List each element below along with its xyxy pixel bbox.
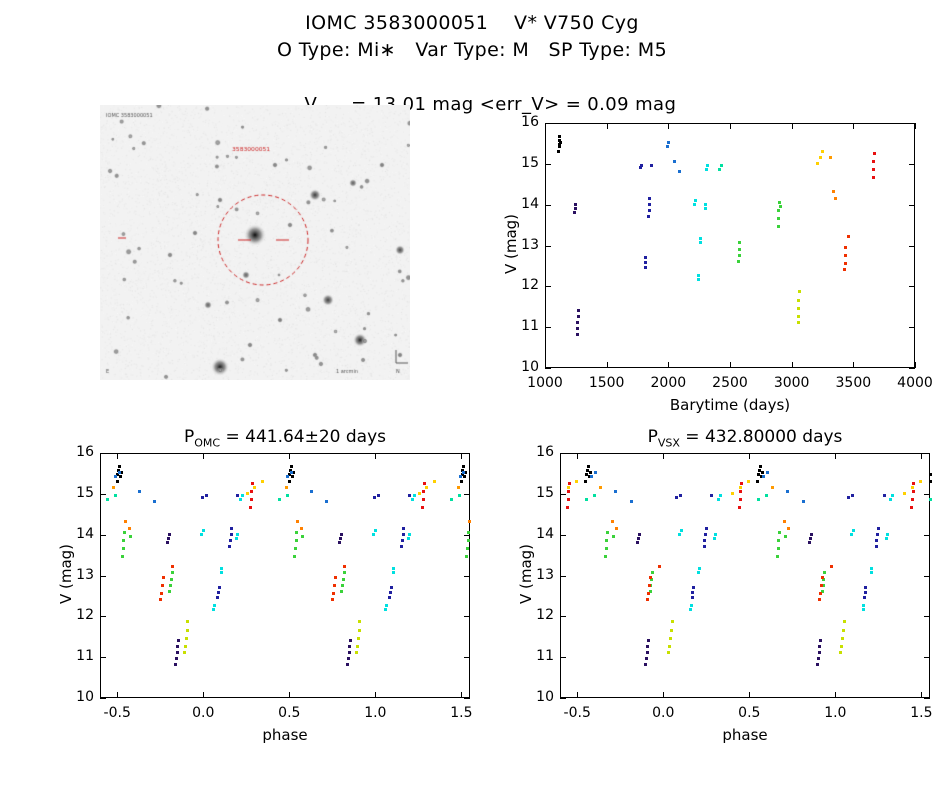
data-point <box>421 506 424 509</box>
y-tick <box>464 535 470 536</box>
x-tick <box>607 362 608 368</box>
data-point <box>118 465 121 468</box>
data-point <box>413 494 416 497</box>
data-point <box>929 498 932 501</box>
y-tick-label: 15 <box>511 155 539 171</box>
data-point <box>671 620 674 623</box>
data-point <box>647 592 650 595</box>
data-point <box>678 533 681 536</box>
data-point <box>121 555 124 558</box>
data-point <box>112 486 115 489</box>
data-point <box>842 629 845 632</box>
data-point <box>816 162 819 165</box>
data-point <box>797 299 800 302</box>
data-point <box>295 539 298 542</box>
y-tick <box>100 576 106 577</box>
data-point <box>851 494 854 497</box>
data-point <box>604 555 607 558</box>
data-point <box>864 586 867 589</box>
data-point <box>646 651 649 654</box>
data-point <box>235 537 238 540</box>
data-point <box>821 150 824 153</box>
lightcurve-panel: 1000150020002500300035004000101112131415… <box>470 95 944 460</box>
y-tick <box>100 453 106 454</box>
x-tick <box>663 692 664 698</box>
y-tick <box>560 494 566 495</box>
data-point <box>357 637 360 640</box>
vsx-title-sub: VSX <box>658 436 680 449</box>
y-tick <box>924 453 930 454</box>
data-point <box>605 547 608 550</box>
y-tick <box>909 327 915 328</box>
data-point <box>300 527 303 530</box>
data-point <box>699 237 702 240</box>
data-point <box>919 480 922 483</box>
x-tick-label: -0.5 <box>547 705 607 721</box>
x-tick-label: 2500 <box>700 375 760 391</box>
data-point <box>675 496 678 499</box>
x-tick <box>663 453 664 459</box>
data-point <box>699 241 702 244</box>
data-point <box>797 307 800 310</box>
x-tick <box>607 123 608 129</box>
data-point <box>372 533 375 536</box>
data-point <box>614 490 617 493</box>
data-point <box>290 471 293 474</box>
data-point <box>765 494 768 497</box>
y-axis-label: V (mag) <box>517 524 535 624</box>
y-tick <box>545 205 551 206</box>
data-point <box>872 168 875 171</box>
data-point <box>718 168 721 171</box>
data-point <box>779 205 782 208</box>
data-point <box>286 494 289 497</box>
data-point <box>615 527 618 530</box>
y-tick <box>924 616 930 617</box>
data-point <box>747 480 750 483</box>
data-point <box>832 190 835 193</box>
data-point <box>834 197 837 200</box>
vsx-title-prefix: P <box>648 427 658 447</box>
omc-title-prefix: P <box>184 427 194 447</box>
data-point <box>912 482 915 485</box>
x-tick <box>375 692 376 698</box>
y-tick <box>545 164 551 165</box>
data-point <box>636 541 639 544</box>
x-tick-label: 0.5 <box>719 705 779 721</box>
data-point <box>844 246 847 249</box>
data-point <box>798 290 801 293</box>
y-tick-label: 16 <box>526 444 554 460</box>
data-point <box>777 217 780 220</box>
y-tick <box>560 453 566 454</box>
data-point <box>153 500 156 503</box>
data-point <box>862 604 865 607</box>
data-point <box>843 268 846 271</box>
data-point <box>738 248 741 251</box>
data-point <box>599 486 602 489</box>
data-point <box>212 608 215 611</box>
data-point <box>459 475 462 478</box>
data-point <box>870 571 873 574</box>
data-point <box>558 145 561 148</box>
data-point <box>864 591 867 594</box>
data-point <box>241 494 244 497</box>
data-point <box>230 533 233 536</box>
data-point <box>738 506 741 509</box>
phase-vsx-panel: PVSX = 432.80000 days-0.50.00.51.01.5101… <box>490 425 944 790</box>
y-tick-label: 15 <box>66 485 94 501</box>
y-tick <box>924 576 930 577</box>
data-point <box>358 620 361 623</box>
data-point <box>638 533 641 536</box>
page-title: IOMC 3583000051 V* V750 Cyg <box>0 10 944 37</box>
data-point <box>757 498 760 501</box>
data-point <box>175 657 178 660</box>
data-point <box>644 256 647 259</box>
data-point <box>462 471 465 474</box>
y-tick <box>100 698 106 699</box>
x-tick-label: 4000 <box>885 375 944 391</box>
lightcurve-plot-area <box>545 123 915 368</box>
data-point <box>576 321 579 324</box>
data-point <box>457 486 460 489</box>
data-point <box>847 235 850 238</box>
data-point <box>332 592 335 595</box>
data-point <box>778 201 781 204</box>
y-tick <box>560 698 566 699</box>
data-point <box>384 608 387 611</box>
data-point <box>467 539 470 542</box>
data-point <box>408 494 411 497</box>
data-point <box>301 535 304 538</box>
y-tick <box>909 164 915 165</box>
x-tick-label: 1.0 <box>805 705 865 721</box>
data-point <box>341 584 344 587</box>
data-point <box>819 639 822 642</box>
y-tick <box>909 368 915 369</box>
data-point <box>844 262 847 265</box>
y-tick <box>545 286 551 287</box>
y-tick-label: 10 <box>511 359 539 375</box>
data-point <box>645 657 648 660</box>
data-point <box>844 254 847 257</box>
data-point <box>841 637 844 640</box>
data-point <box>648 203 651 206</box>
data-point <box>646 645 649 648</box>
data-point <box>872 160 875 163</box>
data-point <box>738 241 741 244</box>
x-tick-label: -0.5 <box>87 705 147 721</box>
data-point <box>818 651 821 654</box>
data-point <box>630 500 633 503</box>
data-point <box>637 537 640 540</box>
data-point <box>771 486 774 489</box>
data-point <box>239 498 242 501</box>
y-tick <box>924 657 930 658</box>
x-tick <box>668 362 669 368</box>
data-point <box>184 645 187 648</box>
finding-chart-image <box>100 105 410 380</box>
data-point <box>783 520 786 523</box>
data-point <box>587 465 590 468</box>
data-point <box>349 639 352 642</box>
data-point <box>644 261 647 264</box>
data-point <box>850 533 853 536</box>
data-point <box>218 586 221 589</box>
data-point <box>778 531 781 534</box>
data-point <box>777 539 780 542</box>
data-point <box>251 482 254 485</box>
data-point <box>821 576 824 579</box>
data-point <box>124 520 127 523</box>
data-point <box>823 571 826 574</box>
x-tick-label: 3000 <box>762 375 822 391</box>
data-point <box>229 539 232 542</box>
data-point <box>236 494 239 497</box>
y-tick <box>909 286 915 287</box>
data-point <box>670 629 673 632</box>
data-point <box>611 520 614 523</box>
x-tick <box>915 123 916 129</box>
data-point <box>852 529 855 532</box>
data-point <box>122 547 125 550</box>
data-point <box>286 475 289 478</box>
y-tick-label: 11 <box>66 648 94 664</box>
y-tick <box>100 535 106 536</box>
data-point <box>818 645 821 648</box>
data-point <box>340 590 343 593</box>
x-tick-label: 0.5 <box>259 705 319 721</box>
data-point <box>756 480 759 483</box>
data-point <box>392 567 395 570</box>
x-tick <box>203 692 204 698</box>
y-tick <box>100 616 106 617</box>
data-point <box>574 203 577 206</box>
data-point <box>777 209 780 212</box>
data-point <box>720 164 723 167</box>
data-point <box>786 490 789 493</box>
x-tick <box>289 453 290 459</box>
data-point <box>342 578 345 581</box>
data-point <box>202 529 205 532</box>
y-axis-label: V (mag) <box>502 194 520 294</box>
data-point <box>797 315 800 318</box>
data-point <box>809 537 812 540</box>
data-point <box>343 565 346 568</box>
data-point <box>590 475 593 478</box>
data-point <box>719 494 722 497</box>
data-point <box>296 520 299 523</box>
y-tick-label: 15 <box>526 485 554 501</box>
data-point <box>450 498 453 501</box>
x-tick-label: 1.5 <box>891 705 944 721</box>
x-tick-label: 1500 <box>577 375 637 391</box>
data-point <box>584 480 587 483</box>
data-point <box>694 199 697 202</box>
data-point <box>183 651 186 654</box>
data-point <box>819 156 822 159</box>
data-point <box>278 498 281 501</box>
data-point <box>355 651 358 654</box>
y-tick-label: 11 <box>511 318 539 334</box>
y-tick <box>464 494 470 495</box>
data-point <box>640 164 643 167</box>
data-point <box>839 651 842 654</box>
data-point <box>648 584 651 587</box>
data-point <box>557 150 560 153</box>
data-point <box>114 475 117 478</box>
data-point <box>739 498 742 501</box>
x-tick <box>461 453 462 459</box>
data-point <box>114 494 117 497</box>
data-point <box>160 592 163 595</box>
data-point <box>690 604 693 607</box>
data-point <box>818 598 821 601</box>
data-point <box>129 535 132 538</box>
y-tick <box>464 657 470 658</box>
x-tick-label: 1.0 <box>345 705 405 721</box>
x-tick-label: 1.5 <box>431 705 491 721</box>
data-point <box>877 527 880 530</box>
data-point <box>697 274 700 277</box>
phase-omc-panel: POMC = 441.64±20 days-0.50.00.51.01.5101… <box>30 425 540 790</box>
data-point <box>606 531 609 534</box>
x-tick <box>461 692 462 698</box>
data-point <box>576 327 579 330</box>
x-axis-label: phase <box>560 726 930 744</box>
data-point <box>873 152 876 155</box>
y-tick <box>464 698 470 699</box>
data-point <box>808 541 811 544</box>
data-point <box>389 591 392 594</box>
data-point <box>910 506 913 509</box>
y-tick <box>545 246 551 247</box>
data-point <box>817 657 820 660</box>
data-point <box>338 541 341 544</box>
data-point <box>118 471 121 474</box>
x-tick <box>749 692 750 698</box>
data-point <box>138 490 141 493</box>
data-point <box>697 278 700 281</box>
data-point <box>177 639 180 642</box>
data-point <box>250 498 253 501</box>
data-point <box>872 176 875 179</box>
data-point <box>648 209 651 212</box>
data-point <box>759 465 762 468</box>
data-point <box>903 492 906 495</box>
data-point <box>577 309 580 312</box>
data-point <box>883 494 886 497</box>
y-tick-label: 10 <box>66 689 94 705</box>
data-point <box>816 663 819 666</box>
data-point <box>589 471 592 474</box>
x-tick <box>730 123 731 129</box>
data-point <box>422 490 425 493</box>
data-point <box>566 506 569 509</box>
data-point <box>697 571 700 574</box>
data-point <box>891 494 894 497</box>
data-point <box>169 584 172 587</box>
data-point <box>159 598 162 601</box>
x-tick <box>577 453 578 459</box>
x-tick <box>375 453 376 459</box>
data-point <box>929 480 932 483</box>
data-point <box>228 545 231 548</box>
object-types: O Type: Mi∗ Var Type: M SP Type: M5 <box>0 37 944 64</box>
data-point <box>577 315 580 318</box>
x-tick-label: 0.0 <box>173 705 233 721</box>
data-point <box>331 598 334 601</box>
data-point <box>123 531 126 534</box>
data-point <box>691 596 694 599</box>
data-point <box>777 225 780 228</box>
data-point <box>704 203 707 206</box>
data-point <box>200 533 203 536</box>
data-point <box>594 471 597 474</box>
data-point <box>559 141 562 144</box>
data-point <box>593 494 596 497</box>
y-tick <box>545 123 551 124</box>
omc-title-sub: OMC <box>194 436 220 449</box>
data-point <box>573 211 576 214</box>
omc-title-rest: = 441.64±20 days <box>220 427 386 447</box>
data-point <box>288 480 291 483</box>
data-point <box>205 494 208 497</box>
data-point <box>911 498 914 501</box>
data-point <box>558 135 561 138</box>
data-point <box>612 535 615 538</box>
data-point <box>348 651 351 654</box>
x-tick <box>921 453 922 459</box>
x-tick-label: 3500 <box>823 375 883 391</box>
data-point <box>761 471 764 474</box>
data-point <box>253 486 256 489</box>
data-point <box>295 531 298 534</box>
x-tick-label: 2000 <box>638 375 698 391</box>
plot-page: IOMC 3583000051 V* V750 Cyg O Type: Mi∗ … <box>0 0 944 747</box>
data-point <box>466 547 469 550</box>
data-point <box>576 333 579 336</box>
data-point <box>693 203 696 206</box>
data-point <box>673 160 676 163</box>
data-point <box>714 533 717 536</box>
data-point <box>651 571 654 574</box>
data-point <box>644 266 647 269</box>
data-point <box>797 321 800 324</box>
data-point <box>402 527 405 530</box>
x-tick <box>853 123 854 129</box>
data-point <box>704 533 707 536</box>
y-tick <box>909 123 915 124</box>
y-tick <box>464 453 470 454</box>
data-point <box>667 651 670 654</box>
data-point <box>575 480 578 483</box>
y-tick-label: 16 <box>511 114 539 130</box>
data-point <box>802 500 805 503</box>
data-point <box>261 480 264 483</box>
data-point <box>422 498 425 501</box>
data-point <box>574 207 577 210</box>
data-point <box>462 465 465 468</box>
data-point <box>425 486 428 489</box>
data-point <box>567 498 570 501</box>
y-tick <box>545 327 551 328</box>
data-point <box>347 657 350 660</box>
data-point <box>392 571 395 574</box>
data-point <box>889 498 892 501</box>
data-point <box>294 547 297 550</box>
